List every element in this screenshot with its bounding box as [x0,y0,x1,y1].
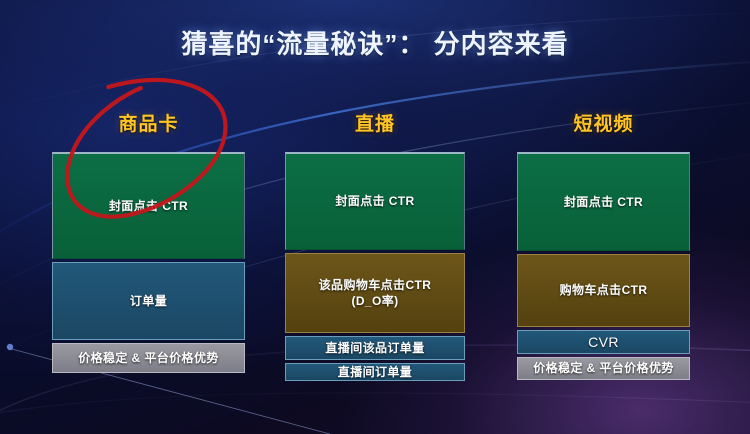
metric-label: 直播间该品订单量 [325,340,424,356]
metric-label: 价格稳定 & 平台价格优势 [78,350,219,366]
column-stack: 封面点击 CTR 订单量 价格稳定 & 平台价格优势 [52,152,245,373]
metric-box-order-count[interactable]: 订单量 [52,262,245,340]
metric-label: 该品购物车点击CTR [319,277,432,293]
metric-label: CVR [588,333,619,352]
metric-box-cart-click-ctr[interactable]: 该品购物车点击CTR (D_O率) [285,253,465,333]
metric-label: 封面点击 CTR [335,193,414,209]
slide-canvas: 猜喜的“流量秘诀”： 分内容来看 商品卡 封面点击 CTR 订单量 价格稳定 &… [0,0,750,434]
metric-label: 直播间订单量 [338,364,412,380]
metric-box-cart-click-ctr[interactable]: 购物车点击CTR [517,254,690,327]
metric-label: 封面点击 CTR [564,194,643,210]
metric-label: 订单量 [130,293,167,309]
metric-sublabel: (D_O率) [351,293,398,309]
metric-box-price-advantage[interactable]: 价格稳定 & 平台价格优势 [52,343,245,373]
metric-box-live-product-orders[interactable]: 直播间该品订单量 [285,336,465,360]
column-stack: 封面点击 CTR 购物车点击CTR CVR 价格稳定 & 平台价格优势 [517,152,690,380]
metric-box-cover-click-ctr[interactable]: 封面点击 CTR [517,152,690,251]
column-stack: 封面点击 CTR 该品购物车点击CTR (D_O率) 直播间该品订单量 直播间订… [285,152,465,381]
column-header: 商品卡 [52,112,245,138]
metric-box-cover-click-ctr[interactable]: 封面点击 CTR [285,152,465,250]
metric-box-live-room-orders[interactable]: 直播间订单量 [285,363,465,381]
metric-box-cover-click-ctr[interactable]: 封面点击 CTR [52,152,245,259]
column-live-stream: 直播 封面点击 CTR 该品购物车点击CTR (D_O率) 直播间该品订单量 直… [285,112,465,384]
metric-label: 价格稳定 & 平台价格优势 [533,360,674,376]
metric-box-price-advantage[interactable]: 价格稳定 & 平台价格优势 [517,357,690,380]
column-header: 直播 [285,112,465,138]
page-title: 猜喜的“流量秘诀”： 分内容来看 [0,24,750,61]
column-product-card: 商品卡 封面点击 CTR 订单量 价格稳定 & 平台价格优势 [52,112,245,376]
column-header: 短视频 [517,112,690,138]
metric-label: 购物车点击CTR [560,282,648,298]
metric-label: 封面点击 CTR [109,198,188,214]
metric-box-cvr[interactable]: CVR [517,330,690,354]
column-short-video: 短视频 封面点击 CTR 购物车点击CTR CVR 价格稳定 & 平台价格优势 [517,112,690,383]
